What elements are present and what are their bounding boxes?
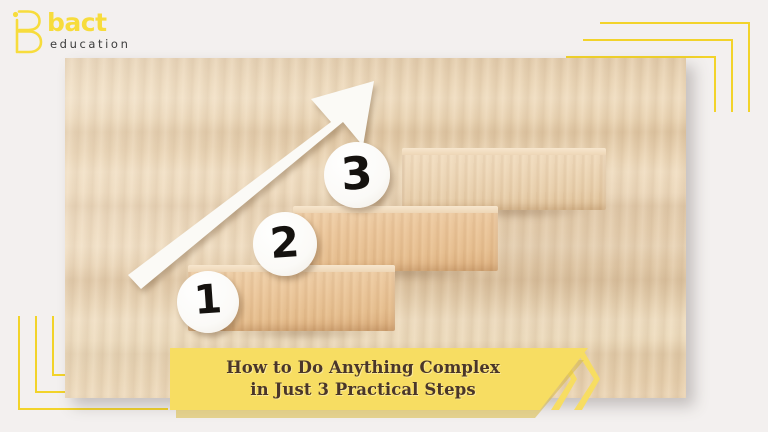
title-banner: How to Do Anything Complex in Just 3 Pra… [170, 348, 588, 410]
step-number-3: 3 [340, 145, 375, 200]
brand-logo[interactable]: bact education [10, 8, 185, 56]
stylized-b-logo-icon [10, 8, 44, 54]
brand-wordmark: bact [47, 10, 107, 35]
brand-tagline: education [50, 39, 130, 51]
slide-canvas: bact education [0, 0, 768, 432]
step-number-1: 1 [193, 276, 224, 324]
hero-photo: 1 2 3 [65, 58, 686, 398]
step-number-2: 2 [269, 217, 302, 268]
block-face [402, 148, 606, 210]
banner-title-line-2: in Just 3 Practical Steps [250, 379, 476, 401]
step-number-badge-1: 1 [177, 271, 239, 333]
block-top-edge [402, 148, 606, 155]
banner-title-line-1: How to Do Anything Complex [226, 357, 500, 379]
wood-block-step-3 [402, 148, 606, 210]
step-number-badge-3: 3 [324, 142, 390, 208]
step-number-badge-2: 2 [253, 212, 317, 276]
